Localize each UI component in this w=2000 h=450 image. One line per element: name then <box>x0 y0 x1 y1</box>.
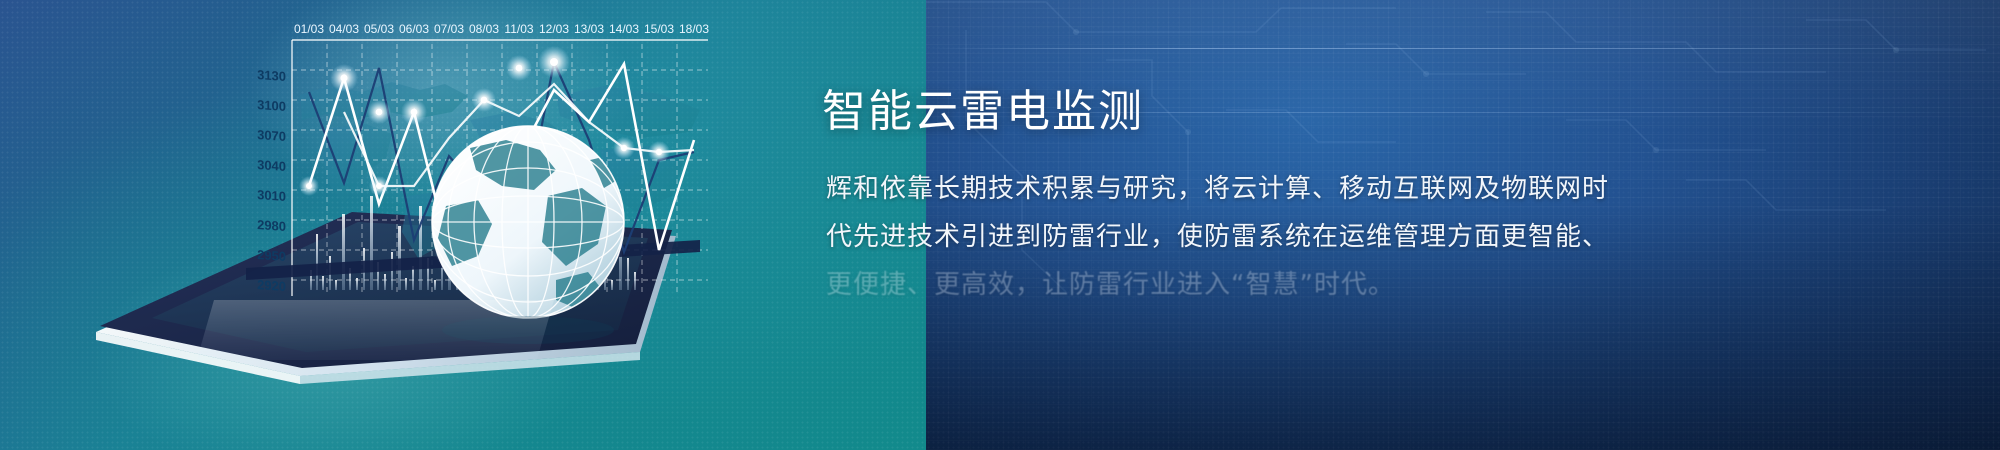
x-tick: 07/03 <box>434 22 464 36</box>
banner-copy: 智能云雷电监测 辉和依靠长期技术积累与研究，将云计算、移动互联网及物联网时 代先… <box>822 0 2000 450</box>
promo-banner: 01/03 04/03 05/03 06/03 07/03 08/03 11/0… <box>0 0 2000 450</box>
page-title: 智能云雷电监测 <box>822 75 1144 139</box>
y-tick: 3010 <box>257 187 286 204</box>
screen-reflection <box>197 300 554 360</box>
x-tick: 08/03 <box>469 22 499 36</box>
x-tick: 01/03 <box>294 22 324 36</box>
body-text-line-2: 代先进技术引进到防雷行业，使防雷系统在运维管理方面更智能、 <box>826 216 1609 253</box>
body-text-line-1: 辉和依靠长期技术积累与研究，将云计算、移动互联网及物联网时 <box>826 168 1609 205</box>
x-axis-ticks: 01/03 04/03 05/03 06/03 07/03 08/03 11/0… <box>294 22 709 36</box>
tablet-chart-scene: 01/03 04/03 05/03 06/03 07/03 08/03 11/0… <box>0 0 926 450</box>
body-text-line-3: 更便捷、更高效，让防雷行业进入“智慧”时代。 <box>826 264 1395 301</box>
x-tick: 14/03 <box>609 22 639 36</box>
y-tick: 2950 <box>257 247 286 264</box>
x-tick: 13/03 <box>574 22 604 36</box>
x-tick: 12/03 <box>539 22 569 36</box>
chart-illustration: 01/03 04/03 05/03 06/03 07/03 08/03 11/0… <box>0 0 926 450</box>
x-tick: 05/03 <box>364 22 394 36</box>
y-tick: 3100 <box>257 97 286 114</box>
x-tick: 11/03 <box>504 22 533 36</box>
x-tick: 18/03 <box>679 22 709 36</box>
y-tick: 3070 <box>257 127 286 144</box>
y-tick: 2980 <box>257 217 286 234</box>
x-tick: 06/03 <box>399 22 429 36</box>
y-axis-ticks: 3130 3100 3070 3040 3010 2980 2950 2920 <box>257 67 286 294</box>
x-tick: 04/03 <box>329 22 359 36</box>
y-tick: 3130 <box>257 67 286 84</box>
left-visual-pane: 01/03 04/03 05/03 06/03 07/03 08/03 11/0… <box>0 0 926 450</box>
y-tick: 3040 <box>257 157 286 174</box>
x-tick: 15/03 <box>644 22 674 36</box>
y-tick: 2920 <box>257 277 286 294</box>
